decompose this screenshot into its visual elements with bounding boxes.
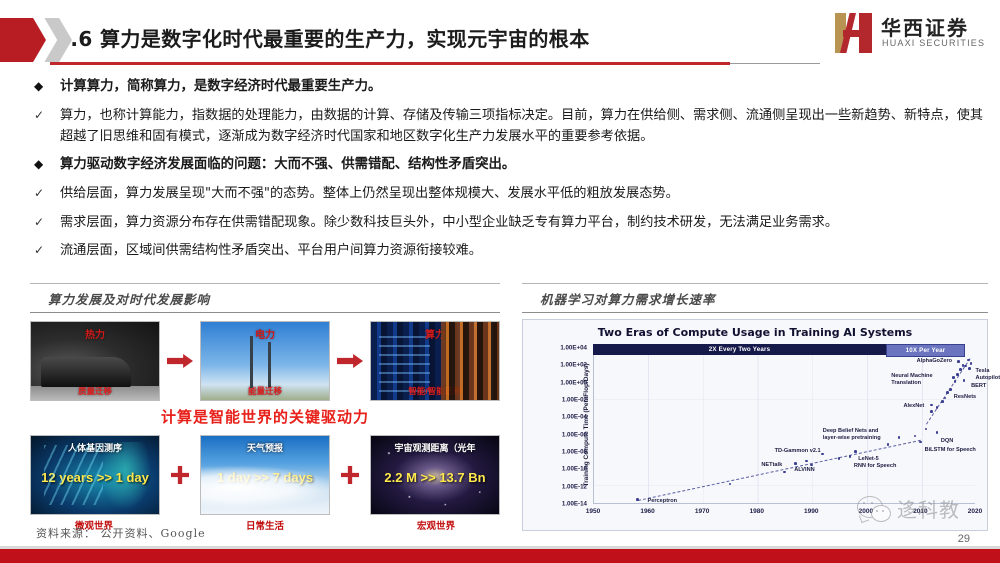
chart-plot-area: PerceptronNETtalkALVINNTD-Gammon v2.1LeN… [593, 348, 975, 504]
compute-eras-chart: Two Eras of Compute Usage in Training AI… [522, 319, 988, 531]
chart-data-point [805, 460, 808, 463]
chart-data-point [964, 365, 967, 368]
chart-data-point [919, 441, 922, 444]
bullet-row: ✓ 算力，也称计算能力，指数据的处理能力，由数据的计算、存储及传输三项指标决定。… [34, 105, 984, 148]
bullet-text: 计算算力，简称算力，是数字经济时代最重要生产力。 [60, 76, 381, 98]
image-caption-bottom: 智能/智能迁移 [371, 385, 499, 397]
bullet-text: 需求层面，算力资源分布存在供需错配现象。除少数科技巨头外，中小型企业缺乏专有算力… [60, 212, 838, 233]
image-caption-top: 算力 [371, 326, 499, 341]
chart-data-point [930, 404, 933, 407]
bullet-marker-check-icon: ✓ [34, 183, 60, 203]
chart-y-tick: 1.00E-10 [562, 466, 587, 473]
chart-point-label: Perceptron [648, 498, 678, 505]
chart-data-point [956, 373, 959, 376]
chart-point-label: NETtalk [761, 462, 782, 469]
bullet-row: ◆ 算力驱动数字经济发展面临的问题：大而不强、供需错配、结构性矛盾突出。 [34, 154, 984, 176]
chart-point-label: ALVINN [794, 467, 814, 474]
plus-icon [163, 466, 197, 484]
image-caption-bottom: 能量迁移 [201, 385, 329, 397]
chart-point-label: TD-Gammon v2.1 [775, 448, 821, 455]
chart-y-tick: 1.00E-04 [562, 414, 587, 421]
chart-x-tick: 1950 [586, 508, 600, 515]
chart-y-tick: 1.00E+04 [560, 345, 587, 352]
arrow-right-icon [163, 354, 197, 368]
chart-x-tick: 1990 [804, 508, 818, 515]
chart-y-tick: 1.00E+00 [560, 379, 587, 386]
image-metric: 2.2 M >> 13.7 Bn [371, 470, 499, 485]
bullet-text: 算力驱动数字经济发展面临的问题：大而不强、供需错配、结构性矛盾突出。 [60, 154, 515, 176]
page-title: 2.6 算力是数字化时代最重要的生产力，实现元宇宙的根本 [56, 23, 590, 52]
chart-point-label: AlphaGoZero [917, 358, 952, 365]
arrow-right-icon [333, 354, 367, 368]
chart-data-point [936, 406, 939, 409]
bullet-row: ◆ 计算算力，简称算力，是数字经济时代最重要生产力。 [34, 76, 984, 98]
footer-red-bar [0, 549, 1000, 563]
weather-forecast-image: 天气预报 1 day >> 7 days [200, 435, 330, 515]
gene-sequencing-image: 人体基因测序 12 years >> 1 day [30, 435, 160, 515]
bullet-marker-diamond-icon: ◆ [34, 154, 60, 174]
era-band-label: 2X Every Two Years [593, 344, 886, 355]
image-caption-top: 宇宙观测距离（光年 [371, 441, 499, 454]
universe-observation-image: 宇宙观测距离（光年 2.2 M >> 13.7 Bn [370, 435, 500, 515]
slide: 2.6 算力是数字化时代最重要的生产力，实现元宇宙的根本 华西证券 HUAXI … [0, 0, 1000, 563]
bullet-marker-check-icon: ✓ [34, 105, 60, 125]
huaxi-h-mark-icon [835, 13, 875, 53]
era-band-2x: 2X Every Two Years [593, 344, 886, 355]
chart-x-tick: 1970 [695, 508, 709, 515]
chart-data-point [949, 388, 952, 391]
header-chevron-red-icon [0, 18, 46, 62]
chart-x-tick: 2020 [968, 508, 982, 515]
panel-title-rule [30, 312, 500, 313]
chart-data-point [821, 453, 824, 456]
chart-y-tick: 1.00E-06 [562, 431, 587, 438]
chart-y-tick: 1.00E-02 [562, 397, 587, 404]
scale-caption: 日常生活 [201, 518, 329, 532]
chart-x-ticks: 19501960197019801990200020102020 [593, 508, 975, 520]
header-rule-gray [730, 63, 820, 64]
image-caption-top: 电力 [201, 326, 329, 341]
image-metric: 1 day >> 7 days [201, 470, 329, 485]
scale-image-row: 人体基因测序 12 years >> 1 day 天气预报 1 day >> 7… [30, 435, 500, 515]
chart-data-point [854, 450, 857, 453]
chart-point-label: DQN [941, 438, 953, 445]
right-figure-panel: 机器学习对算力需求增长速率 Two Eras of Compute Usage … [522, 283, 988, 533]
bullet-list: ◆ 计算算力，简称算力，是数字经济时代最重要生产力。 ✓ 算力，也称计算能力，指… [34, 76, 984, 268]
chart-data-point [729, 483, 732, 486]
image-metric: 12 years >> 1 day [31, 470, 159, 485]
source-note: 资料来源： 公开资料、Google [36, 525, 206, 541]
page-number: 29 [958, 533, 970, 545]
chart-data-point [887, 443, 890, 446]
chart-data-point [794, 462, 797, 465]
chart-point-label: BERT [971, 383, 986, 390]
bullet-marker-check-icon: ✓ [34, 212, 60, 232]
bullet-marker-diamond-icon: ◆ [34, 76, 60, 96]
chart-y-tick: 1.00E-14 [562, 501, 587, 508]
image-caption-bottom: 质量迁移 [31, 385, 159, 397]
chart-data-point [968, 367, 971, 370]
chart-data-point [783, 471, 786, 474]
chart-x-tick: 1960 [640, 508, 654, 515]
image-caption-top: 天气预报 [201, 441, 329, 454]
chart-point-label: TeslaAutopilot [976, 368, 1000, 382]
chart-point-label: Deep Belief Nets andlayer-wise pretraini… [823, 428, 881, 442]
image-caption-top: 人体基因测序 [31, 441, 159, 454]
chart-title: Two Eras of Compute Usage in Training AI… [523, 326, 987, 339]
chart-point-label: Neural MachineTranslation [891, 373, 932, 387]
plus-icon [333, 466, 367, 484]
chart-data-point [954, 380, 957, 383]
bullet-row: ✓ 流通层面，区域间供需结构性矛盾突出、平台用户间算力资源衔接较难。 [34, 240, 984, 261]
panel-top-rule [522, 283, 988, 284]
bullet-row: ✓ 需求层面，算力资源分布存在供需错配现象。除少数科技巨头外，中小型企业缺乏专有… [34, 212, 984, 233]
chart-data-point [957, 360, 960, 363]
image-caption-top: 热力 [31, 326, 159, 341]
chart-x-tick: 2010 [913, 508, 927, 515]
left-figure-panel: 算力发展及对时代发展影响 热力 质量迁移 电力 能量迁移 算力 智能/智能迁移 … [30, 283, 500, 533]
chart-data-point [925, 428, 928, 431]
chart-data-point [944, 397, 947, 400]
electric-power-image: 电力 能量迁移 [200, 321, 330, 401]
chart-data-point [936, 431, 939, 434]
logo-english-name: HUAXI SECURITIES [882, 38, 985, 48]
panel-title-rule [522, 312, 988, 313]
red-slogan: 计算是智能世界的关键驱动力 [30, 406, 500, 427]
panel-top-rule [30, 283, 500, 284]
chart-x-tick: 2000 [859, 508, 873, 515]
chart-data-point [849, 455, 852, 458]
chart-data-point [636, 498, 639, 501]
chart-data-point [898, 436, 901, 439]
chart-data-point [838, 457, 841, 460]
chart-y-tick: 1.00E+02 [560, 362, 587, 369]
chart-data-point [963, 379, 966, 382]
chart-point-label: RNN for Speech [854, 463, 897, 470]
chart-y-ticks: 1.00E+041.00E+021.00E+001.00E-021.00E-04… [531, 348, 587, 504]
chart-y-tick: 1.00E-12 [562, 483, 587, 490]
bullet-text: 流通层面，区域间供需结构性矛盾突出、平台用户间算力资源衔接较难。 [60, 240, 482, 261]
bullet-text: 供给层面，算力发展呈现"大而不强"的态势。整体上仍然呈现出整体规模大、发展水平低… [60, 183, 679, 204]
brand-logo: 华西证券 HUAXI SECURITIES [829, 10, 984, 58]
era-band-label: 10X Per Year [887, 345, 964, 356]
chart-data-point [930, 410, 933, 413]
era-band-10x: 10X Per Year [886, 344, 965, 357]
computing-power-image: 算力 智能/智能迁移 [370, 321, 500, 401]
chart-data-point [946, 391, 949, 394]
chart-point-label: ResNets [954, 394, 976, 401]
bullet-marker-check-icon: ✓ [34, 240, 60, 260]
bullet-text: 算力，也称计算能力，指数据的处理能力，由数据的计算、存储及传输三项指标决定。目前… [60, 105, 984, 148]
logo-chinese-name: 华西证券 [881, 12, 969, 41]
thermal-power-image: 热力 质量迁移 [30, 321, 160, 401]
chart-x-tick: 1980 [749, 508, 763, 515]
bullet-row: ✓ 供给层面，算力发展呈现"大而不强"的态势。整体上仍然呈现出整体规模大、发展水… [34, 183, 984, 204]
header-rule-red [50, 62, 730, 65]
chart-y-tick: 1.00E-08 [562, 449, 587, 456]
evolution-image-row: 热力 质量迁移 电力 能量迁移 算力 智能/智能迁移 [30, 321, 500, 401]
chart-data-point [970, 362, 973, 365]
scale-caption: 宏观世界 [372, 518, 500, 532]
chart-point-label: BiLSTM for Speech [925, 447, 976, 454]
right-panel-title: 机器学习对算力需求增长速率 [522, 289, 988, 312]
chart-data-point [952, 376, 955, 379]
chart-data-point [959, 368, 962, 371]
left-panel-title: 算力发展及对时代发展影响 [30, 289, 500, 312]
chart-data-point [941, 400, 944, 403]
chart-point-label: AlexNet [903, 403, 924, 410]
chart-data-point [914, 435, 917, 438]
